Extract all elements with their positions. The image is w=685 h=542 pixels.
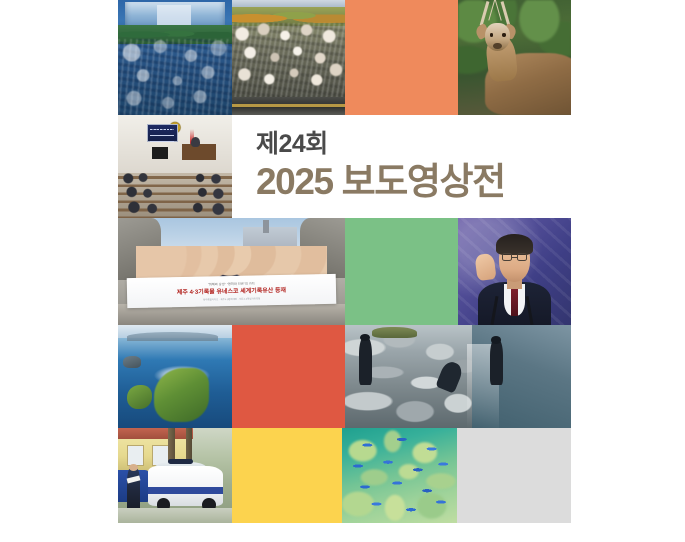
photo-unesco-banner: "화해와 상생" "평화와 인권"의 가치 제주 4·3기록물 유네스코 세계기…	[118, 218, 345, 325]
photo-deer	[458, 0, 571, 115]
photo-crowd-street	[232, 0, 345, 115]
building-window-left	[127, 445, 144, 466]
crowd-people	[232, 23, 345, 101]
officer-head	[129, 464, 138, 471]
seated-members	[118, 173, 232, 218]
celebration-banner: "화해와 상생" "평화와 인권"의 가치 제주 4·3기록물 유네스코 세계기…	[127, 274, 336, 308]
speaker-figure	[191, 137, 200, 147]
yellow-block	[232, 428, 342, 523]
banner-headline: 제주 4·3기록물 유네스코 세계기록유산 등재	[177, 285, 286, 296]
figure-necktie	[511, 289, 518, 317]
banner-sponsors: 제주특별자치도 · 제주4·3평화재단 · 제주4·3희생자유족회	[203, 296, 260, 301]
deer-eye-right	[502, 33, 506, 36]
shore-vegetation	[372, 327, 417, 338]
page-title-main: 2025 보도영상전	[256, 163, 571, 202]
patrol-light-bar	[168, 459, 193, 464]
page-title-sub: 제24회	[256, 132, 571, 157]
chamber-display	[147, 124, 179, 142]
surveyor-left-body	[359, 337, 373, 384]
patrol-car-stripe	[148, 487, 223, 494]
photo-portrait-oath	[458, 218, 571, 325]
glasses-bridge	[512, 257, 518, 258]
light-gray-block	[457, 428, 571, 523]
blue-fish-school	[342, 428, 457, 523]
building-roof	[118, 428, 193, 439]
glasses-right-lens	[517, 253, 527, 260]
surveyor-right-head	[491, 336, 501, 343]
road-line	[232, 104, 345, 107]
photo-police-car	[118, 428, 232, 523]
orange-block	[345, 0, 458, 115]
photo-rocky-shore-survey	[345, 325, 571, 428]
photo-coastal-island	[118, 325, 232, 428]
poster-title-panel: 제24회 2025 보도영상전	[232, 115, 571, 218]
surveyor-right-body	[490, 339, 504, 384]
photo-council-chamber	[118, 115, 232, 218]
crowd-mass	[118, 39, 232, 115]
photo-crowd-blue-building	[118, 0, 232, 115]
main-island	[154, 368, 209, 422]
figure-hair	[496, 234, 532, 255]
photo-underwater-reef	[342, 428, 457, 523]
chamber-monitor	[152, 147, 168, 159]
building-wing	[157, 5, 191, 26]
coastal-rock	[123, 356, 141, 368]
green-block	[345, 218, 458, 325]
red-block	[232, 325, 345, 428]
poster-canvas: 제24회 2025 보도영상전 "화해와 상생" "평화와 인권"의 가치 제주…	[0, 0, 685, 542]
speaker-podium	[182, 144, 216, 160]
distant-hill	[127, 332, 218, 341]
secondary-islet	[127, 385, 152, 410]
foreground-path	[118, 508, 232, 523]
building-spire	[263, 220, 269, 233]
